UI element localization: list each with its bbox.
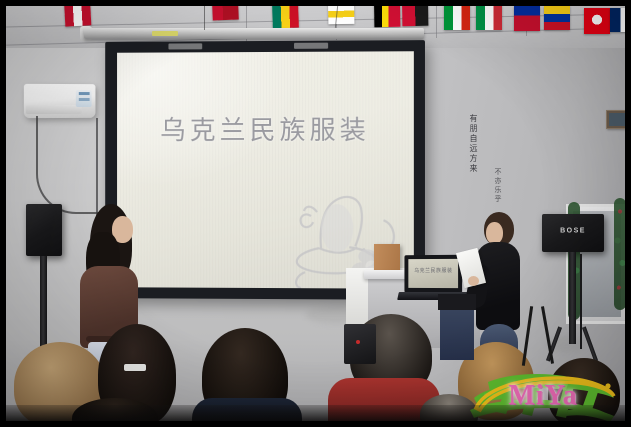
standing-attendee bbox=[440, 306, 474, 360]
flag bbox=[212, 6, 239, 20]
flag bbox=[64, 6, 91, 27]
speaker-right: BOSE bbox=[542, 214, 604, 252]
speaker-left-cabinet bbox=[26, 204, 62, 256]
screen-roller-housing bbox=[84, 28, 424, 39]
ac-vent bbox=[26, 105, 82, 114]
photograph: 有朋自远方来 不亦乐乎 乌克兰民族服装 bbox=[6, 6, 625, 421]
wall-picture-image bbox=[609, 113, 625, 126]
wall-picture bbox=[606, 110, 625, 129]
flag bbox=[444, 6, 470, 30]
screen-tape bbox=[294, 43, 328, 49]
bose-logo: BOSE bbox=[560, 228, 586, 235]
slide-title: 乌克兰民族服装 bbox=[117, 110, 414, 148]
flag bbox=[584, 8, 610, 34]
laptop-screen: 乌克兰民族服装 bbox=[408, 259, 458, 288]
laptop: 乌克兰民族服装 bbox=[404, 255, 462, 293]
flag bbox=[514, 6, 540, 31]
flag bbox=[402, 6, 428, 26]
speaker-right-cable bbox=[580, 254, 582, 349]
ceiling-cord bbox=[204, 6, 205, 30]
camera-record-led bbox=[356, 340, 360, 344]
flag bbox=[328, 6, 354, 24]
flag bbox=[544, 6, 570, 30]
ac-cable bbox=[36, 116, 100, 214]
standing-attendee-top bbox=[438, 294, 476, 310]
wall-calligraphy-main: 有朋自远方来 bbox=[468, 114, 479, 174]
presenter-right-face bbox=[486, 222, 503, 244]
flag bbox=[272, 6, 299, 28]
photo-frame: 有朋自远方来 不亦乐乎 乌克兰民族服装 bbox=[0, 0, 631, 427]
camera-body bbox=[344, 324, 376, 364]
ac-led bbox=[79, 92, 90, 95]
flag bbox=[374, 6, 400, 27]
screen-tape bbox=[168, 43, 202, 49]
flag bbox=[476, 6, 502, 30]
projection-screen-surface: 乌克兰民族服装 bbox=[117, 51, 414, 289]
air-conditioner bbox=[24, 84, 96, 118]
speaker-left bbox=[26, 204, 62, 256]
presenter-right-hand bbox=[468, 276, 479, 286]
roller-label bbox=[152, 31, 178, 36]
flag bbox=[610, 8, 625, 32]
speaker-right-cabinet: BOSE bbox=[542, 214, 604, 252]
ac-led bbox=[79, 98, 90, 101]
speaker-right-stand-pole bbox=[569, 252, 576, 344]
hair-barrette bbox=[124, 364, 146, 371]
laptop-screen-text: 乌克兰民族服装 bbox=[414, 267, 452, 274]
garland-right bbox=[614, 198, 625, 310]
wall-calligraphy-secondary: 不亦乐乎 bbox=[493, 168, 503, 204]
foreground-shadow bbox=[6, 405, 625, 421]
